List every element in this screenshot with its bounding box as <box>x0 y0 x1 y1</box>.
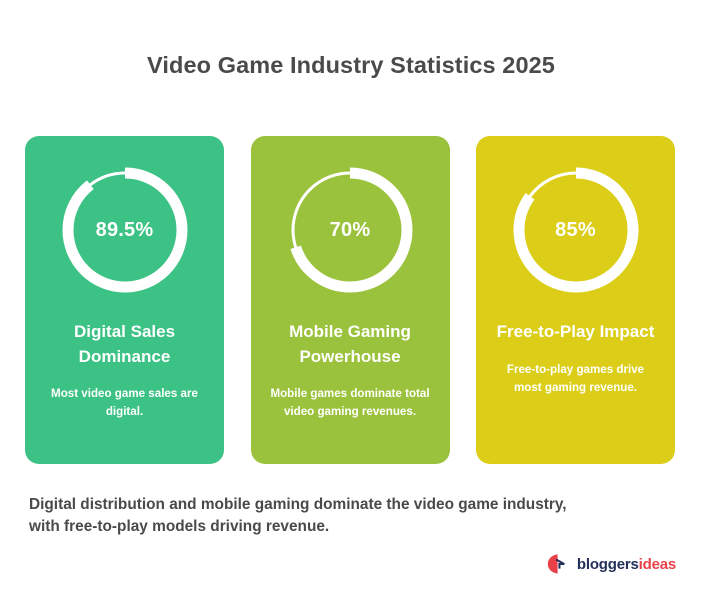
brand-logo: bloggersideas <box>546 552 676 576</box>
stat-card: 85% Free-to-Play Impact Free-to-play gam… <box>476 136 675 464</box>
page-title: Video Game Industry Statistics 2025 <box>0 52 702 79</box>
donut-gauge: 85% <box>500 154 652 306</box>
brand-name: bloggersideas <box>577 556 676 573</box>
stat-card-heading: Digital Sales Dominance <box>37 320 213 369</box>
infographic-root: Video Game Industry Statistics 2025 89.5… <box>0 0 702 600</box>
donut-value-label: 70% <box>274 154 426 306</box>
summary-text: Digital distribution and mobile gaming d… <box>29 494 589 538</box>
stat-card-row: 89.5% Digital Sales Dominance Most video… <box>25 136 675 464</box>
bloggersideas-logo-icon <box>546 552 570 576</box>
stat-card-heading: Mobile Gaming Powerhouse <box>262 320 438 369</box>
donut-gauge: 89.5% <box>49 154 201 306</box>
stat-card: 89.5% Digital Sales Dominance Most video… <box>25 136 224 464</box>
stat-card-heading: Free-to-Play Impact <box>488 320 664 345</box>
donut-gauge: 70% <box>274 154 426 306</box>
stat-card-description: Free-to-play games drive most gaming rev… <box>496 361 656 397</box>
donut-value-label: 89.5% <box>49 154 201 306</box>
brand-name-part2: ideas <box>639 556 676 573</box>
brand-name-part1: bloggers <box>577 556 639 573</box>
stat-card-description: Mobile games dominate total video gaming… <box>270 385 430 421</box>
stat-card-description: Most video game sales are digital. <box>45 385 205 421</box>
donut-value-label: 85% <box>500 154 652 306</box>
stat-card: 70% Mobile Gaming Powerhouse Mobile game… <box>251 136 450 464</box>
